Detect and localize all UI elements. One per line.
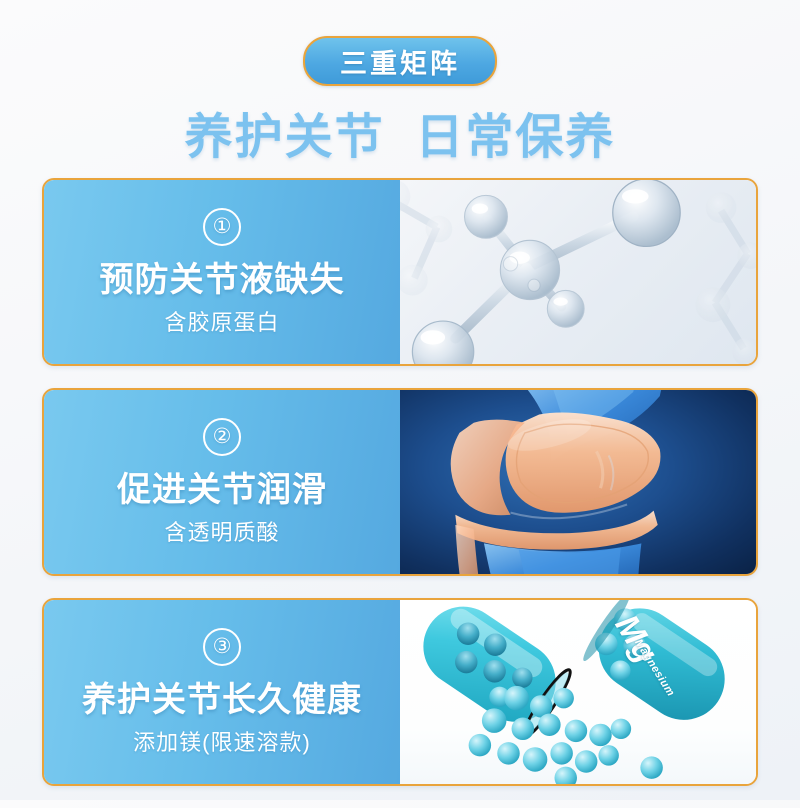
card-1-subtitle: 含胶原蛋白 (164, 305, 279, 337)
promo-page: 三重矩阵 养护关节 日常保养 ① 预防关节液缺失 含胶原蛋白 (0, 0, 800, 800)
card-3-number: ③ (203, 628, 241, 666)
card-2-title: 促进关节润滑 (117, 462, 327, 511)
badge-container: 三重矩阵 (0, 36, 800, 86)
benefit-card-1: ① 预防关节液缺失 含胶原蛋白 (42, 178, 758, 366)
card-1-number: ① (203, 208, 241, 246)
card-1-text-panel: ① 预防关节液缺失 含胶原蛋白 (44, 180, 400, 364)
card-1-title: 预防关节液缺失 (100, 252, 345, 301)
benefit-card-2: ② 促进关节润滑 含透明质酸 (42, 388, 758, 576)
knee-joint-illustration (400, 390, 756, 574)
benefit-card-3: ③ 养护关节长久健康 添加镁(限速溶款) (42, 598, 758, 786)
card-3-subtitle: 添加镁(限速溶款) (133, 725, 311, 757)
card-3-title: 养护关节长久健康 (82, 672, 362, 721)
triple-matrix-badge: 三重矩阵 (303, 36, 497, 86)
page-headline: 养护关节 日常保养 (0, 97, 800, 167)
card-2-text-panel: ② 促进关节润滑 含透明质酸 (44, 390, 400, 574)
card-3-text-panel: ③ 养护关节长久健康 添加镁(限速溶款) (44, 600, 400, 784)
molecule-illustration (400, 180, 756, 364)
benefit-card-list: ① 预防关节液缺失 含胶原蛋白 (42, 178, 758, 808)
magnesium-capsule-illustration: Mg Magnesium (400, 600, 756, 784)
card-2-subtitle: 含透明质酸 (164, 515, 279, 547)
badge-label: 三重矩阵 (340, 42, 460, 81)
card-2-number: ② (203, 418, 241, 456)
